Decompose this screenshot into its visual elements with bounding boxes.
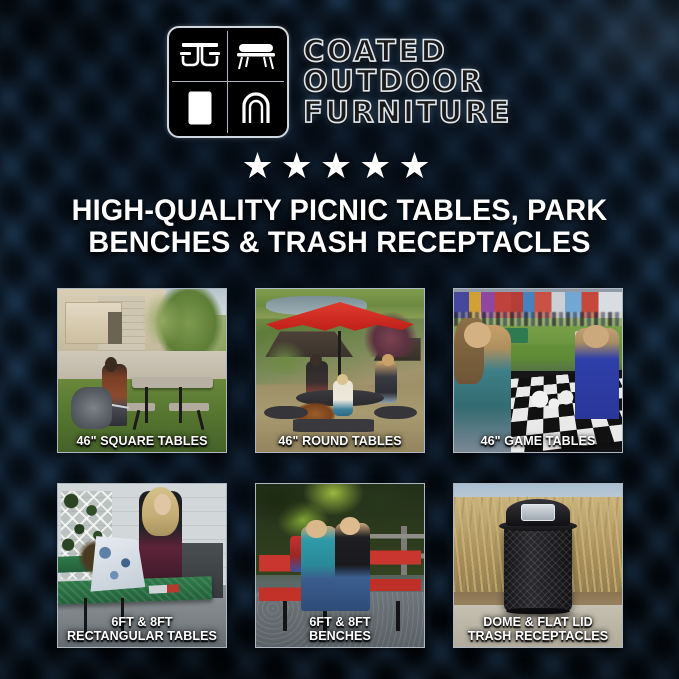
- page-title: HIGH-QUALITY PICNIC TABLES, PARK BENCHES…: [14, 195, 666, 259]
- product-caption: 46" ROUND TABLES: [256, 435, 424, 449]
- product-card-round-tables[interactable]: 46" ROUND TABLES: [255, 288, 425, 453]
- product-image-round-tables: [256, 289, 424, 452]
- star-rating: ★★★★★: [0, 148, 679, 184]
- picnic-table-icon: [172, 31, 228, 82]
- product-card-rectangular-tables[interactable]: 6FT & 8FT RECTANGULAR TABLES: [57, 483, 227, 648]
- brand-logo: COATED OUTDOOR FURNITURE: [0, 0, 679, 138]
- product-card-game-tables[interactable]: 46" GAME TABLES: [453, 288, 623, 453]
- product-caption: 46" GAME TABLES: [454, 435, 622, 449]
- product-card-square-tables[interactable]: 46" SQUARE TABLES: [57, 288, 227, 453]
- headline-line-1: HIGH-QUALITY PICNIC TABLES, PARK: [14, 195, 666, 227]
- product-caption: 6FT & 8FT RECTANGULAR TABLES: [58, 616, 226, 643]
- headline-line-2: BENCHES & TRASH RECEPTACLES: [14, 227, 666, 259]
- logo-icon-grid: [167, 26, 289, 138]
- brand-wordmark: COATED OUTDOOR FURNITURE: [303, 37, 512, 128]
- product-card-trash-receptacles[interactable]: DOME & FLAT LID TRASH RECEPTACLES: [453, 483, 623, 648]
- trash-receptacle-icon: [172, 82, 228, 133]
- product-caption: DOME & FLAT LID TRASH RECEPTACLES: [454, 616, 622, 643]
- wordmark-line-3: FURNITURE: [303, 98, 512, 128]
- wordmark-line-2: OUTDOOR: [303, 67, 512, 97]
- product-caption: 6FT & 8FT BENCHES: [256, 616, 424, 643]
- product-image-square-tables: [58, 289, 226, 452]
- product-image-game-tables: [454, 289, 622, 452]
- park-bench-icon: [228, 31, 284, 82]
- product-card-benches[interactable]: 6FT & 8FT BENCHES: [255, 483, 425, 648]
- banner-content: COATED OUTDOOR FURNITURE ★★★★★ HIGH-QUAL…: [0, 0, 679, 679]
- product-caption: 46" SQUARE TABLES: [58, 435, 226, 449]
- bike-rack-icon: [228, 82, 284, 133]
- product-grid: 46" SQUARE TABLES 46" ROUND TABLES: [57, 288, 623, 648]
- promo-banner: COATED OUTDOOR FURNITURE ★★★★★ HIGH-QUAL…: [0, 0, 679, 679]
- wordmark-line-1: COATED: [303, 37, 512, 67]
